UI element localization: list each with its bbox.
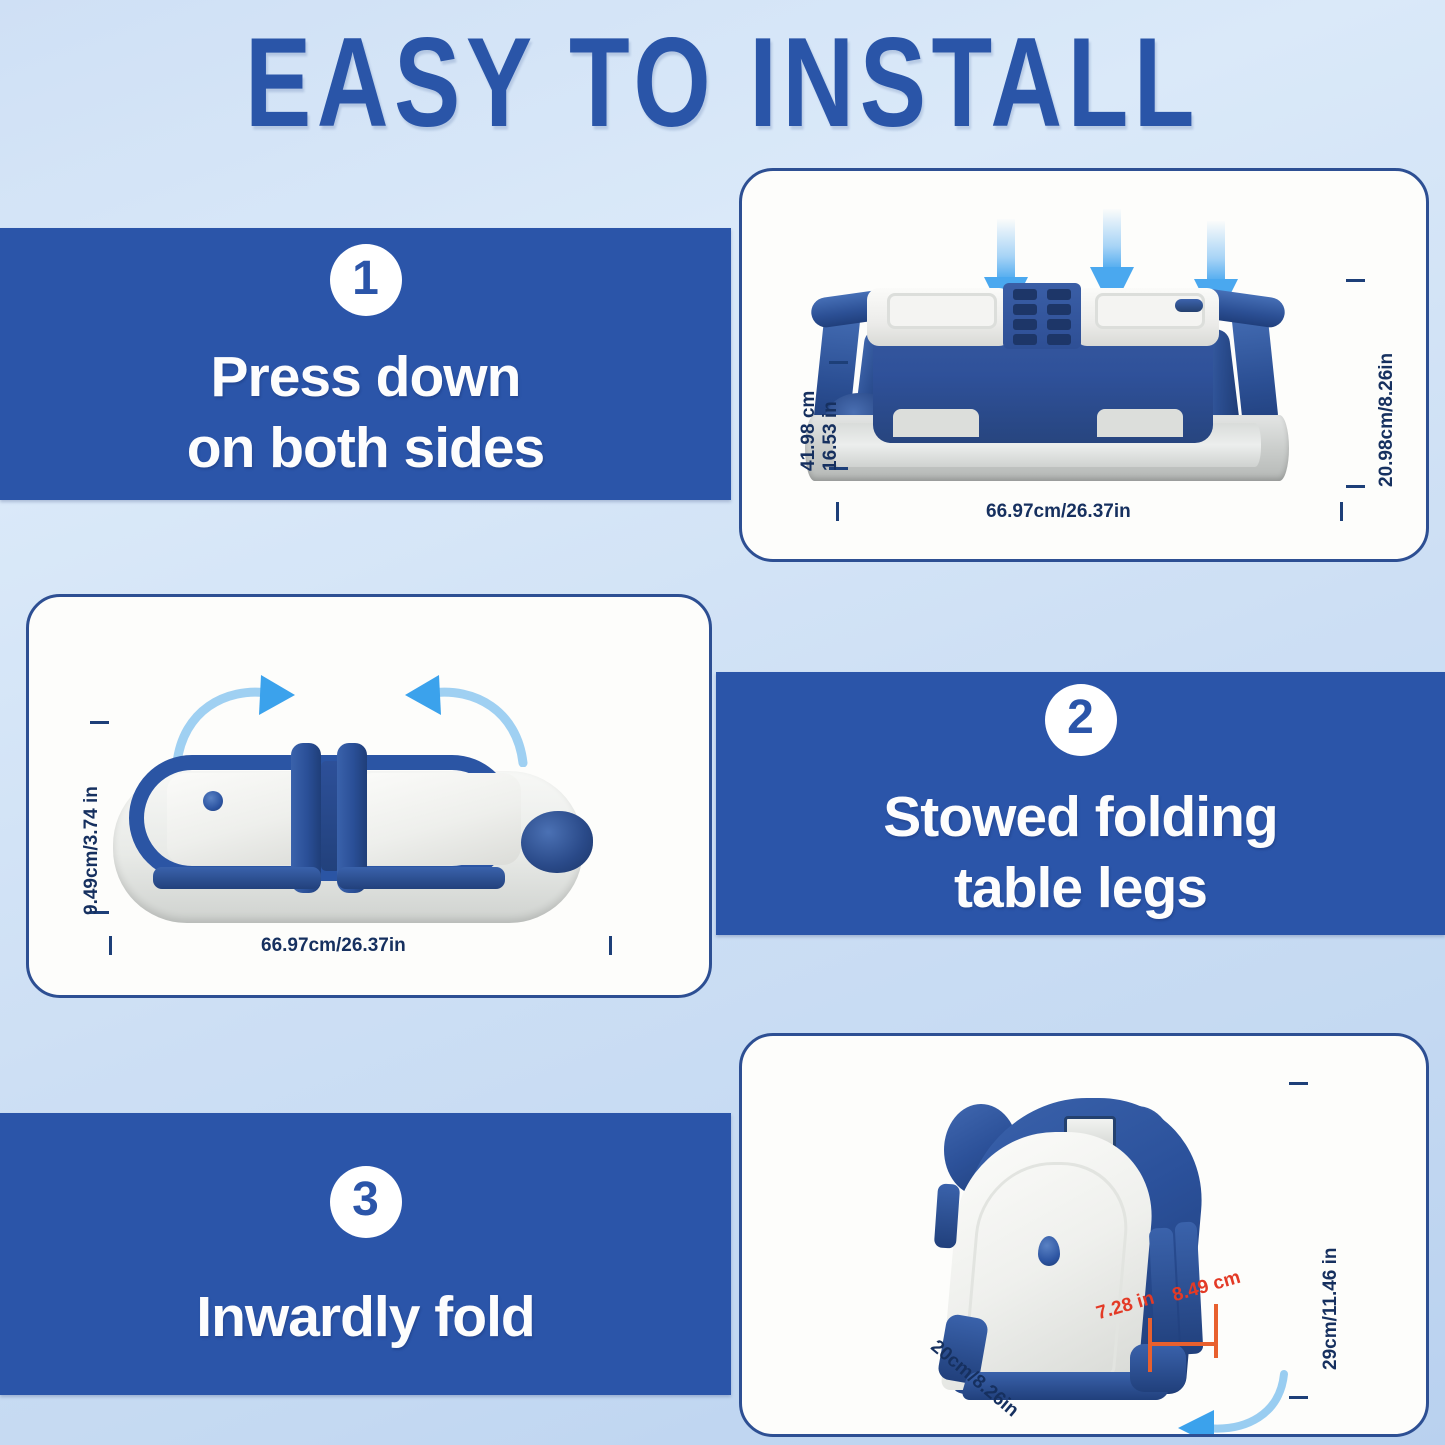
drain-plug — [203, 791, 223, 811]
dim-line-right-v — [742, 279, 745, 487]
body-notch-left — [893, 409, 979, 437]
infographic-page: EASY TO INSTALL 1 Press down on both sid… — [0, 0, 1445, 1445]
step-text-2-line1: Stowed folding — [883, 785, 1277, 849]
product-photo-card-3: 29cm/11.46 in 20cm/8.26in 7.28 in 8.49 c… — [739, 1033, 1429, 1437]
step-text-2-line2: table legs — [883, 853, 1277, 924]
product-illustration-folded-flat: 9.49cm/3.74 in 66.97cm/26.37in — [29, 597, 709, 995]
red-dim-cap-right — [1214, 1304, 1218, 1358]
dim-label-folded-height: 9.49cm/3.74 in — [81, 786, 103, 915]
step-number-badge-2: 2 — [1045, 684, 1117, 756]
dim-line-left-v2 — [29, 597, 32, 789]
dim-line-left-v — [742, 171, 745, 279]
red-dim-cap-left — [1148, 1318, 1152, 1372]
dim-label-upright-height: 29cm/11.46 in — [1320, 1247, 1342, 1370]
red-dim-line-h — [1150, 1342, 1216, 1346]
dim-cap-bottom-right — [1340, 502, 1343, 521]
step-text-3: Inwardly fold — [170, 1282, 561, 1353]
product-illustration-open-box: 41.98 cm 16.53 in 20.98cm/8.26in 66.97cm… — [742, 171, 1426, 559]
step-band-1: 1 Press down on both sides — [0, 228, 731, 500]
fold-direction-arrow — [1172, 1366, 1292, 1437]
dim-cap-right-top — [1346, 279, 1365, 282]
product-photo-card-2: 9.49cm/3.74 in 66.97cm/26.37in — [26, 594, 712, 998]
step-text-1: Press down on both sides — [161, 342, 571, 483]
lid-knob — [1175, 299, 1203, 312]
upright-product-group — [920, 1076, 1280, 1406]
dim-cap-bottom-left — [836, 502, 839, 521]
lid-right — [1075, 288, 1219, 346]
folded-bar-right — [337, 867, 505, 889]
page-title: EASY TO INSTALL — [58, 8, 1387, 156]
dim-cap-right-bottom — [1346, 485, 1365, 488]
dim-cap-bottom-left2 — [109, 936, 112, 955]
folded-panel-right — [355, 773, 521, 865]
dim-label-width: 66.97cm/26.37in — [986, 501, 1131, 523]
step-text-3-line1: Inwardly fold — [196, 1285, 535, 1349]
folded-product-group — [93, 725, 613, 935]
dim-cap-left-top2 — [90, 721, 109, 724]
product-illustration-folded-upright: 29cm/11.46 in 20cm/8.26in 7.28 in 8.49 c… — [742, 1036, 1426, 1434]
step-number-badge-1: 1 — [330, 244, 402, 316]
step-text-2: Stowed folding table legs — [857, 782, 1303, 923]
dim-cap-right-top3 — [1289, 1082, 1308, 1085]
dim-line-right-v3 — [742, 1036, 745, 1352]
product-body-group — [797, 233, 1297, 495]
dim-cap-left-top — [829, 361, 848, 364]
folded-bar-left — [153, 867, 321, 889]
lid-left — [867, 288, 1011, 346]
center-grill-block — [1003, 283, 1081, 349]
step-band-2: 2 Stowed folding table legs — [716, 672, 1445, 935]
product-photo-card-1: 41.98 cm 16.53 in 20.98cm/8.26in 66.97cm… — [739, 168, 1429, 562]
step-text-1-line2: on both sides — [187, 413, 545, 484]
dim-cap-bottom-right2 — [609, 936, 612, 955]
body-notch-right — [1097, 409, 1183, 437]
upright-drain-plug — [1038, 1236, 1060, 1266]
dim-label-depth: 20.98cm/8.26in — [1376, 353, 1398, 487]
step-band-3: 3 Inwardly fold — [0, 1113, 731, 1395]
step-text-1-line1: Press down — [211, 345, 521, 409]
dim-label-height-cm: 41.98 cm — [798, 391, 820, 471]
dim-label-height-in: 16.53 in — [820, 401, 842, 471]
upright-leg-left — [934, 1183, 960, 1248]
step-number-badge-3: 3 — [330, 1166, 402, 1238]
folded-wheel — [521, 811, 593, 873]
dim-label-folded-width: 66.97cm/26.37in — [261, 935, 406, 957]
